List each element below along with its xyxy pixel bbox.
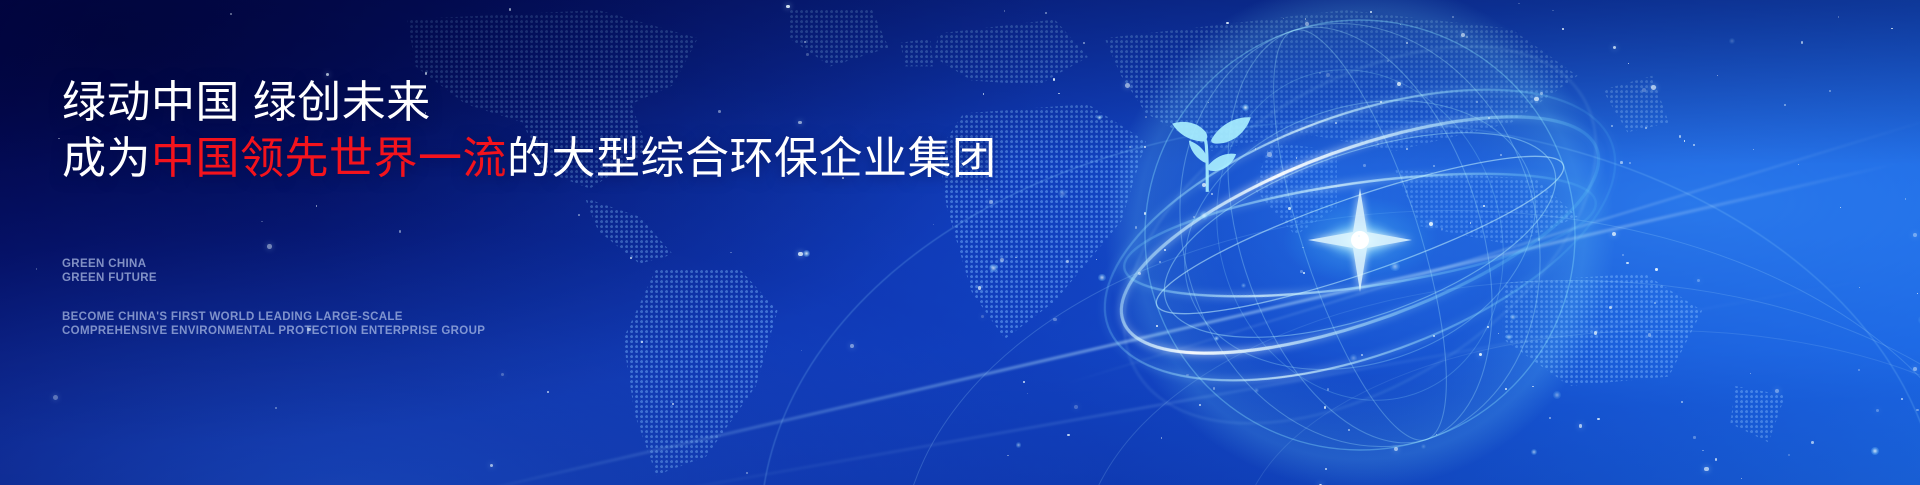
wireframe-globe (1060, 0, 1680, 485)
subcopy-line-1: BECOME CHINA'S FIRST WORLD LEADING LARGE… (62, 311, 485, 325)
hero-banner: 绿动中国 绿创未来 成为中国领先世界一流的大型综合环保企业集团 GREEN CH… (0, 0, 1920, 485)
headline-line-2-suffix: 的大型综合环保企业集团 (507, 134, 997, 183)
headline-line-2: 成为中国领先世界一流的大型综合环保企业集团 (62, 134, 997, 184)
eyebrow-line-1: GREEN CHINA (62, 258, 157, 272)
headline-line-2-highlight: 中国领先世界一流 (151, 134, 507, 183)
eyebrow-tagline: GREEN CHINA GREEN FUTURE (62, 258, 157, 285)
subcopy-line-2: COMPREHENSIVE ENVIRONMENTAL PROTECTION E… (62, 325, 485, 339)
headline-line-2-prefix: 成为 (62, 134, 151, 183)
copy-block: 绿动中国 绿创未来 成为中国领先世界一流的大型综合环保企业集团 GREEN CH… (62, 0, 1062, 485)
subcopy-tagline: BECOME CHINA'S FIRST WORLD LEADING LARGE… (62, 311, 485, 338)
eyebrow-line-2: GREEN FUTURE (62, 272, 157, 286)
headline-line-1: 绿动中国 绿创未来 (62, 78, 431, 128)
